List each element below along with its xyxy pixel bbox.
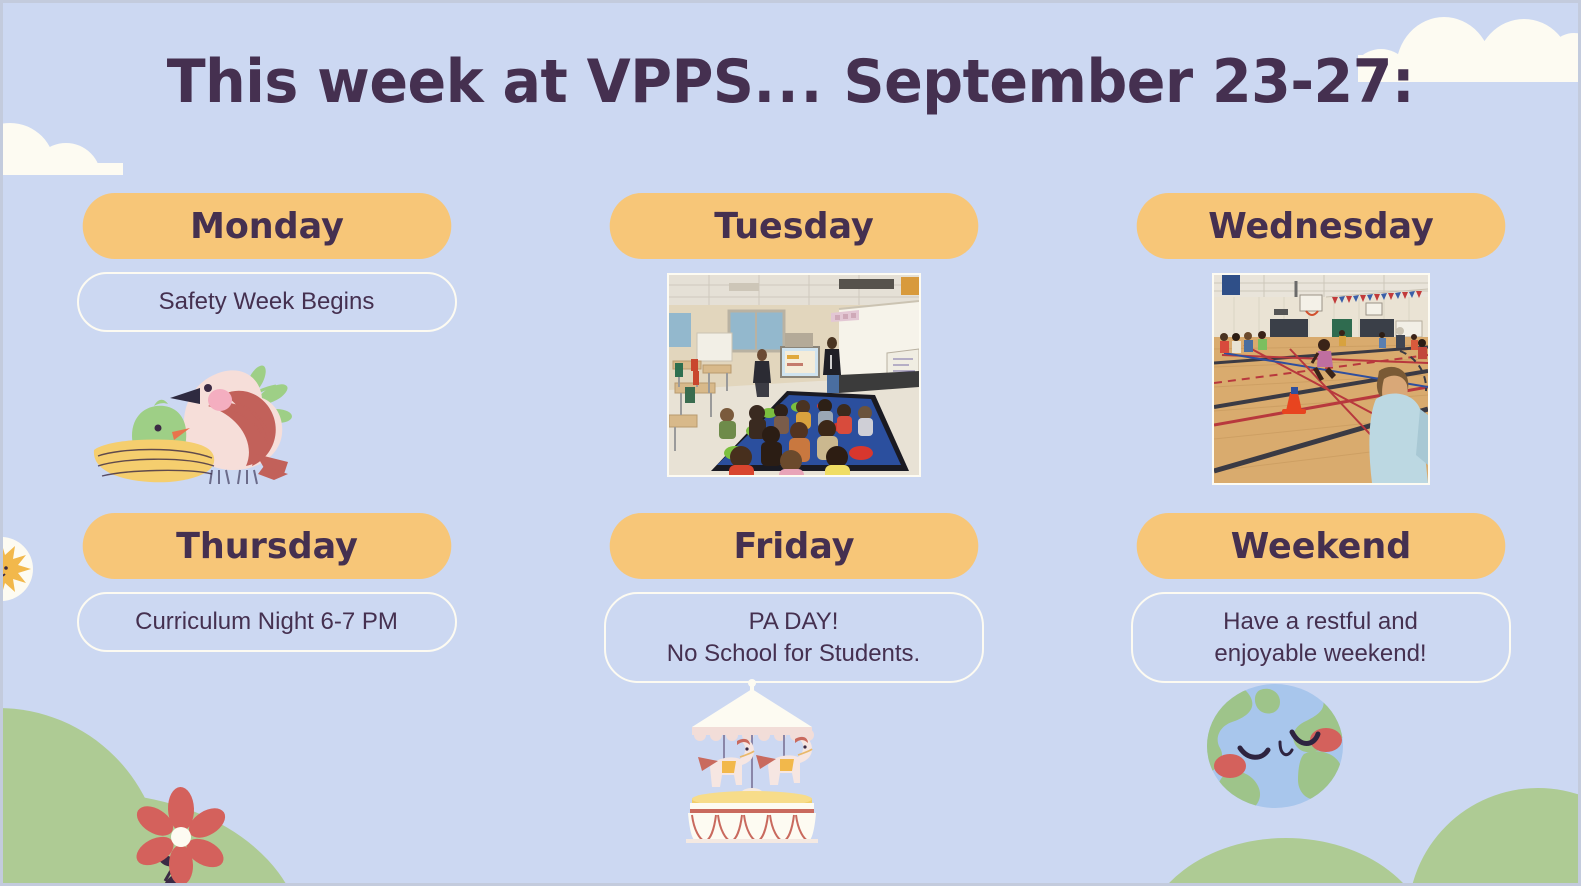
day-label-friday: Friday: [733, 526, 854, 567]
week-grid: Monday Safety Week Begins: [3, 193, 1581, 683]
note-text-weekend-line1: Have a restful and: [1159, 606, 1483, 638]
day-cell-monday: Monday Safety Week Begins: [3, 193, 530, 493]
day-label-wednesday: Wednesday: [1208, 206, 1434, 247]
gymnasium-photo-image: [1214, 275, 1428, 483]
day-cell-friday: Friday PA DAY! No School for Students.: [530, 493, 1057, 683]
day-label-tuesday: Tuesday: [714, 206, 874, 247]
hill-bottom-left-shape-2: [0, 793, 303, 886]
flower-icon: [121, 773, 241, 886]
day-label-monday: Monday: [190, 206, 344, 247]
note-card-thursday: Curriculum Night 6-7 PM: [77, 592, 457, 652]
earth-illustration: [1204, 682, 1346, 810]
bird-nest-illustration: [88, 358, 303, 488]
hill-bottom-right-shape-2: [1408, 788, 1581, 886]
title-ellipsis: ...: [753, 47, 824, 117]
page-title: This week at VPPS... September 23-27:: [42, 47, 1538, 117]
hill-bottom-left-shape: [0, 708, 163, 886]
carousel-illustration: [674, 679, 830, 843]
note-text-friday-line1: PA DAY!: [632, 606, 956, 638]
title-main-text: This week at VPPS: [167, 47, 754, 117]
day-pill-monday[interactable]: Monday: [82, 193, 451, 259]
weekly-announcement-poster: This week at VPPS... September 23-27: Mo…: [0, 0, 1581, 886]
cloud-top-left-icon: [0, 115, 163, 175]
note-card-friday: PA DAY! No School for Students.: [604, 592, 984, 683]
day-pill-thursday[interactable]: Thursday: [82, 513, 451, 579]
sun-sticker-icon: [0, 535, 35, 603]
note-text-weekend-line2: enjoyable weekend!: [1159, 638, 1483, 670]
day-label-weekend: Weekend: [1230, 526, 1410, 567]
day-cell-thursday: Thursday Curriculum Night 6-7 PM: [3, 493, 530, 683]
day-cell-weekend: Weekend Have a restful and enjoyable wee…: [1057, 493, 1581, 683]
day-pill-friday[interactable]: Friday: [609, 513, 978, 579]
day-pill-tuesday[interactable]: Tuesday: [609, 193, 978, 259]
note-text-monday: Safety Week Begins: [159, 288, 375, 315]
note-text-friday-line2: No School for Students.: [632, 638, 956, 670]
note-card-weekend: Have a restful and enjoyable weekend!: [1131, 592, 1511, 683]
classroom-photo-image: [669, 275, 919, 475]
title-dates-text: September 23-27:: [824, 47, 1414, 117]
day-pill-weekend[interactable]: Weekend: [1136, 513, 1505, 579]
note-card-monday: Safety Week Begins: [77, 272, 457, 332]
gymnasium-photo: [1212, 273, 1430, 485]
day-pill-wednesday[interactable]: Wednesday: [1136, 193, 1505, 259]
day-cell-tuesday: Tuesday: [530, 193, 1057, 493]
classroom-photo: [667, 273, 921, 477]
day-cell-wednesday: Wednesday: [1057, 193, 1581, 493]
day-label-thursday: Thursday: [176, 526, 358, 567]
note-text-thursday: Curriculum Night 6-7 PM: [135, 608, 398, 635]
hill-bottom-right-shape: [1141, 838, 1431, 886]
